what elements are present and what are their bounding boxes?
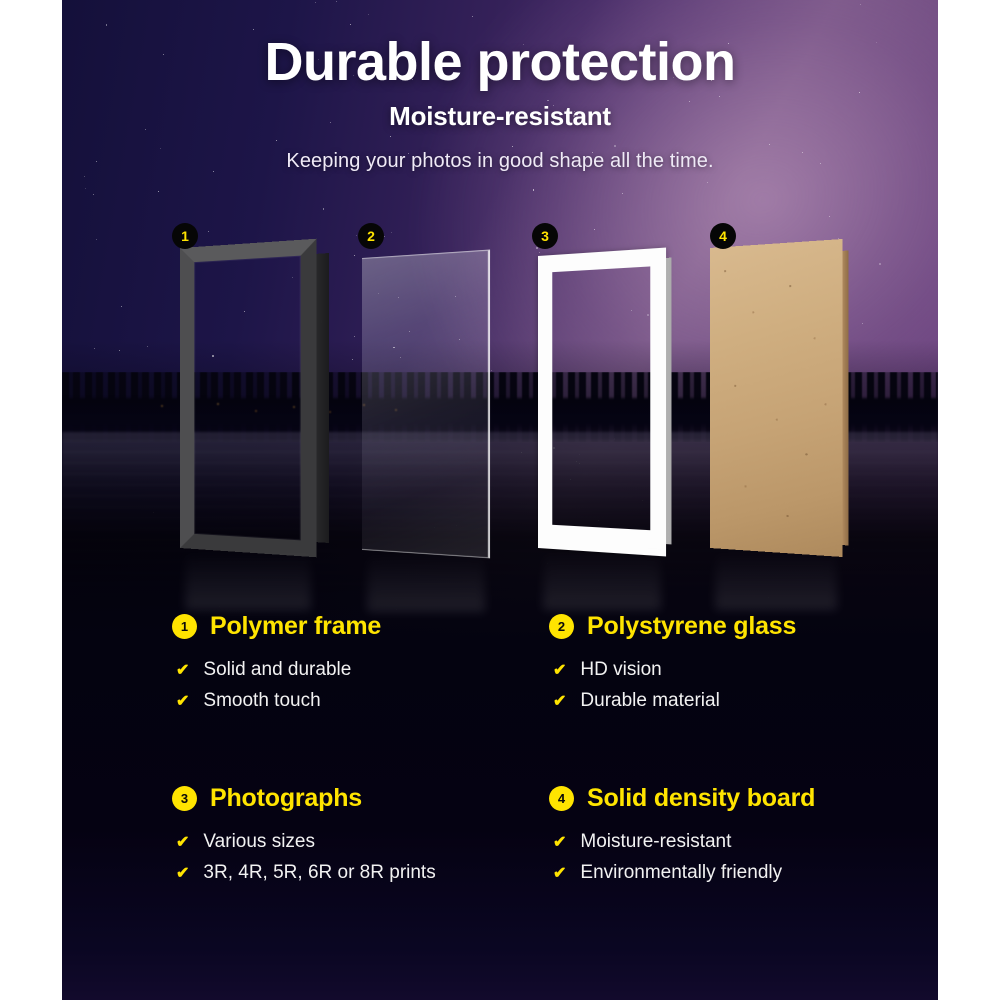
- list-item: ✔ Moisture-resistant: [553, 827, 908, 858]
- check-icon: ✔: [553, 830, 566, 856]
- frame-highlight: [180, 239, 317, 558]
- legend-badge-2: 2: [549, 614, 574, 639]
- check-icon: ✔: [553, 689, 566, 715]
- check-icon: ✔: [553, 658, 566, 684]
- legend-title-2: Polystyrene glass: [587, 612, 796, 641]
- page-tagline: Keeping your photos in good shape all th…: [0, 150, 1000, 173]
- bullet-text: Solid and durable: [203, 655, 351, 686]
- diagram-badge-4: 4: [710, 223, 736, 249]
- part-photograph-mat: [538, 256, 666, 548]
- legend-badge-4: 4: [549, 786, 574, 811]
- bullet-text: Various sizes: [203, 827, 315, 858]
- check-icon: ✔: [176, 689, 189, 715]
- glass-reflection: [367, 552, 485, 612]
- legend-heading-4: 4 Solid density board: [549, 784, 908, 813]
- diagram-badge-1: 1: [172, 223, 198, 249]
- diagram-badge-3: 3: [532, 223, 558, 249]
- page-subtitle: Moisture-resistant: [0, 101, 1000, 132]
- board-face: [710, 239, 842, 557]
- part-polymer-frame: [180, 248, 316, 548]
- legend-heading-2: 2 Polystyrene glass: [549, 612, 908, 641]
- bullet-text: Durable material: [580, 686, 719, 717]
- infographic-canvas: Durable protection Moisture-resistant Ke…: [0, 0, 1000, 1000]
- legend-title-4: Solid density board: [587, 784, 815, 813]
- list-item: ✔ Solid and durable: [176, 655, 531, 686]
- header-block: Durable protection Moisture-resistant Ke…: [0, 34, 1000, 173]
- part-solid-density-board: [710, 248, 842, 548]
- legend-badge-1: 1: [172, 614, 197, 639]
- list-item: ✔ Smooth touch: [176, 686, 531, 717]
- board-reflection: [715, 550, 836, 610]
- legend-bullets-3: ✔ Various sizes ✔ 3R, 4R, 5R, 6R or 8R p…: [172, 827, 531, 889]
- list-item: ✔ Durable material: [553, 686, 908, 717]
- bullet-text: Moisture-resistant: [580, 827, 731, 858]
- legend-title-3: Photographs: [210, 784, 362, 813]
- legend-grid: 1 Polymer frame ✔ Solid and durable ✔ Sm…: [62, 612, 938, 932]
- legend-title-1: Polymer frame: [210, 612, 381, 641]
- legend-bullets-2: ✔ HD vision ✔ Durable material: [549, 655, 908, 717]
- check-icon: ✔: [176, 830, 189, 856]
- list-item: ✔ Environmentally friendly: [553, 858, 908, 889]
- legend-item-4: 4 Solid density board ✔ Moisture-resista…: [549, 784, 908, 932]
- glass-pane: [362, 250, 490, 559]
- legend-bullets-4: ✔ Moisture-resistant ✔ Environmentally f…: [549, 827, 908, 889]
- check-icon: ✔: [553, 861, 566, 887]
- legend-badge-3: 3: [172, 786, 197, 811]
- list-item: ✔ HD vision: [553, 655, 908, 686]
- frame-reflection: [185, 550, 310, 610]
- legend-heading-3: 3 Photographs: [172, 784, 531, 813]
- part-polystyrene-glass: [362, 258, 490, 550]
- legend-item-1: 1 Polymer frame ✔ Solid and durable ✔ Sm…: [172, 612, 531, 760]
- legend-item-2: 2 Polystyrene glass ✔ HD vision ✔ Durabl…: [549, 612, 908, 760]
- bullet-text: Smooth touch: [203, 686, 320, 717]
- legend-heading-1: 1 Polymer frame: [172, 612, 531, 641]
- check-icon: ✔: [176, 658, 189, 684]
- page-title: Durable protection: [0, 34, 1000, 91]
- bullet-text: Environmentally friendly: [580, 858, 782, 889]
- mat-reflection: [543, 550, 661, 610]
- legend-item-3: 3 Photographs ✔ Various sizes ✔ 3R, 4R, …: [172, 784, 531, 932]
- bullet-text: HD vision: [580, 655, 661, 686]
- bullet-text: 3R, 4R, 5R, 6R or 8R prints: [203, 858, 435, 889]
- list-item: ✔ 3R, 4R, 5R, 6R or 8R prints: [176, 858, 531, 889]
- mat-face: [538, 248, 666, 557]
- legend-bullets-1: ✔ Solid and durable ✔ Smooth touch: [172, 655, 531, 717]
- check-icon: ✔: [176, 861, 189, 887]
- diagram-badge-2: 2: [358, 223, 384, 249]
- list-item: ✔ Various sizes: [176, 827, 531, 858]
